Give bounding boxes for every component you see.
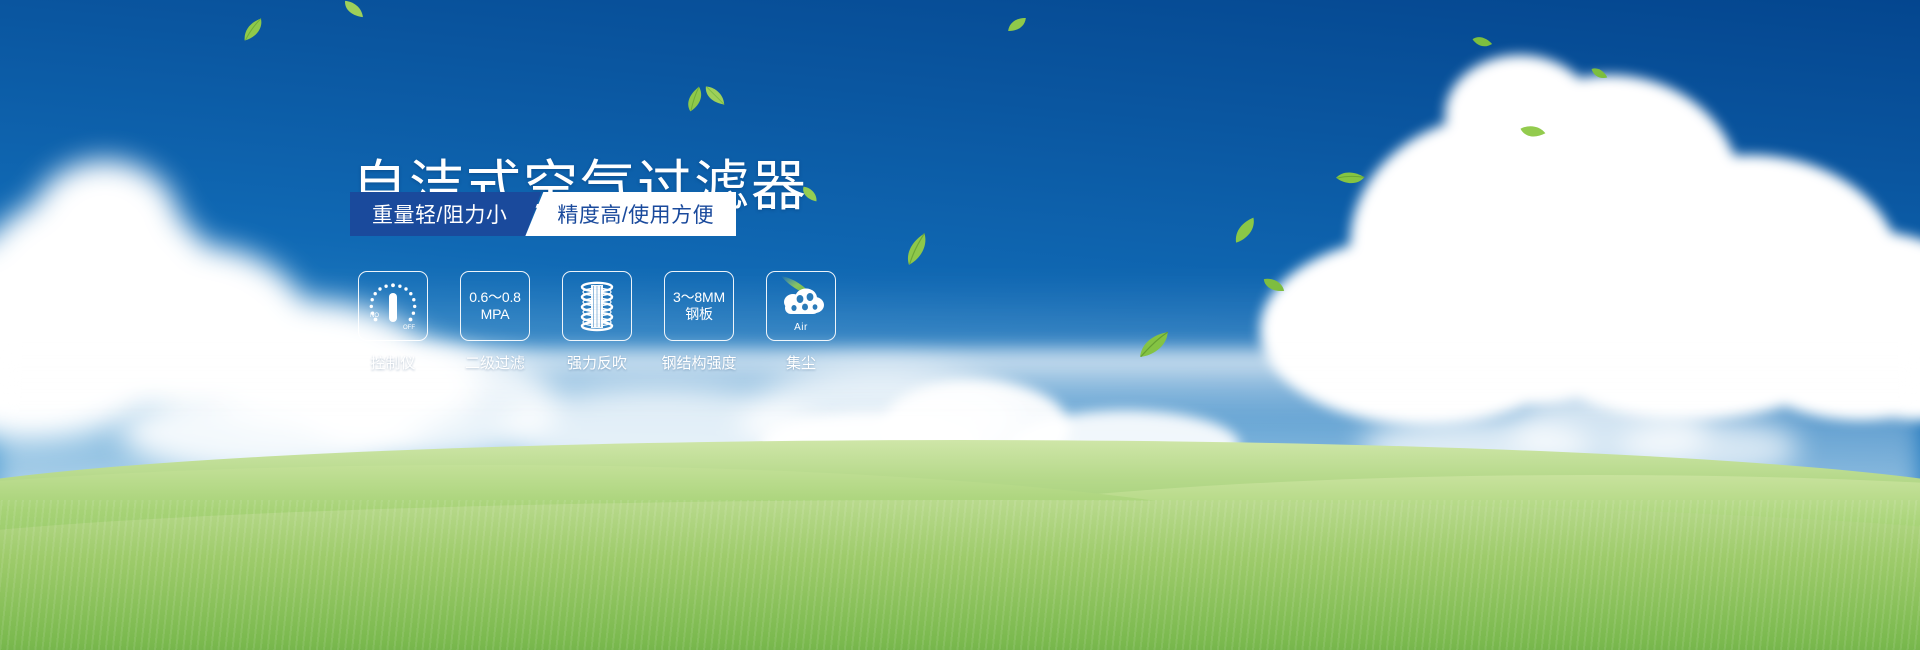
feature-badge-row: NO OFF 控制仪 0.6〜0.8 MPA 二级过滤 — [358, 271, 836, 373]
badge-caption: 控制仪 — [370, 352, 415, 373]
badge-value: 3〜8MM 钢板 — [673, 289, 725, 323]
badge-frame: NO OFF — [358, 271, 428, 341]
feature-badge-two-stage-filter[interactable]: 0.6〜0.8 MPA 二级过滤 — [460, 271, 530, 373]
badge-caption: 二级过滤 — [465, 352, 525, 373]
badge-frame — [562, 271, 632, 341]
subtitle-left-segment: 重量轻/阻力小 — [350, 192, 541, 236]
feature-badge-reverse-blow[interactable]: 强力反吹 — [562, 271, 632, 373]
badge-value: 0.6〜0.8 MPA — [469, 289, 521, 323]
subtitle-right-segment: 精度高/使用方便 — [525, 192, 736, 236]
badge-value: Air — [767, 322, 835, 333]
banner-content: 自洁式空气过滤器 重量轻/阻力小 精度高/使用方便 — [0, 0, 1920, 650]
dial-max-label: OFF — [403, 325, 415, 331]
feature-badge-control-instrument[interactable]: NO OFF 控制仪 — [358, 271, 428, 373]
badge-frame: 0.6〜0.8 MPA — [460, 271, 530, 341]
feature-badge-steel-strength[interactable]: 3〜8MM 钢板 钢结构强度 — [664, 271, 734, 373]
dial-min-label: NO — [370, 313, 379, 319]
badge-frame: Air — [766, 271, 836, 341]
promo-banner: 自洁式空气过滤器 重量轻/阻力小 精度高/使用方便 — [0, 0, 1920, 650]
filter-coil-icon — [572, 279, 622, 333]
dial-gauge-icon: NO OFF — [362, 275, 424, 337]
feature-badge-dust-collection[interactable]: Air 集尘 — [766, 271, 836, 373]
badge-caption: 集尘 — [786, 352, 816, 373]
badge-caption: 强力反吹 — [567, 352, 627, 373]
badge-frame: 3〜8MM 钢板 — [664, 271, 734, 341]
badge-caption: 钢结构强度 — [662, 352, 737, 373]
subtitle-pill: 重量轻/阻力小 精度高/使用方便 — [350, 192, 736, 236]
